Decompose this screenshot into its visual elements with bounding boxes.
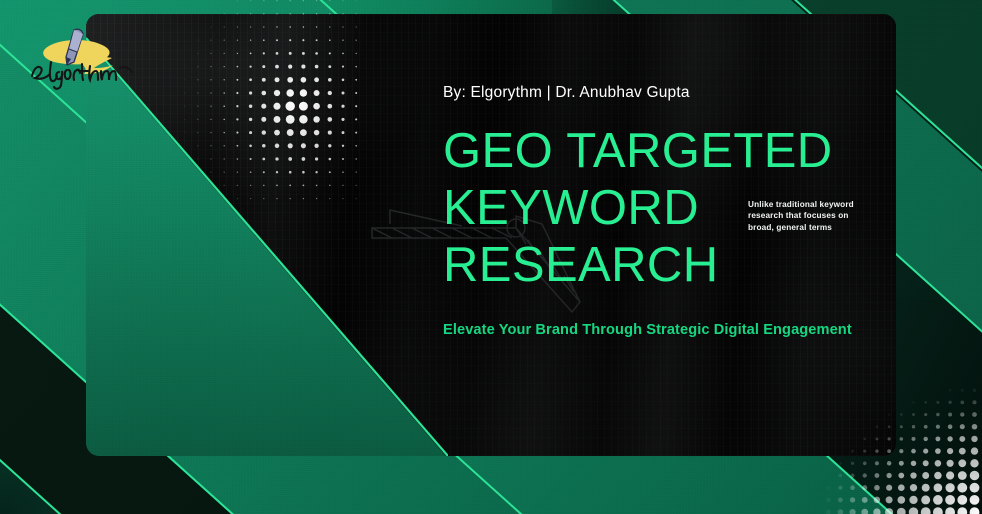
logo-wordmark-script [32,62,132,89]
side-note: Unlike traditional keyword research that… [748,199,868,233]
slide-text-content: By: Elgorythm | Dr. Anubhav Gupta GEO TA… [443,84,873,338]
headline-line-3: RESEARCH [443,237,873,294]
headline-line-1: GEO TARGETED [443,123,873,180]
logo-mark-icon [22,18,142,96]
byline: By: Elgorythm | Dr. Anubhav Gupta [443,84,873,103]
presentation-slide: By: Elgorythm | Dr. Anubhav Gupta GEO TA… [0,0,982,514]
tagline: Elevate Your Brand Through Strategic Dig… [443,322,873,338]
elgorythm-logo[interactable] [22,18,142,96]
